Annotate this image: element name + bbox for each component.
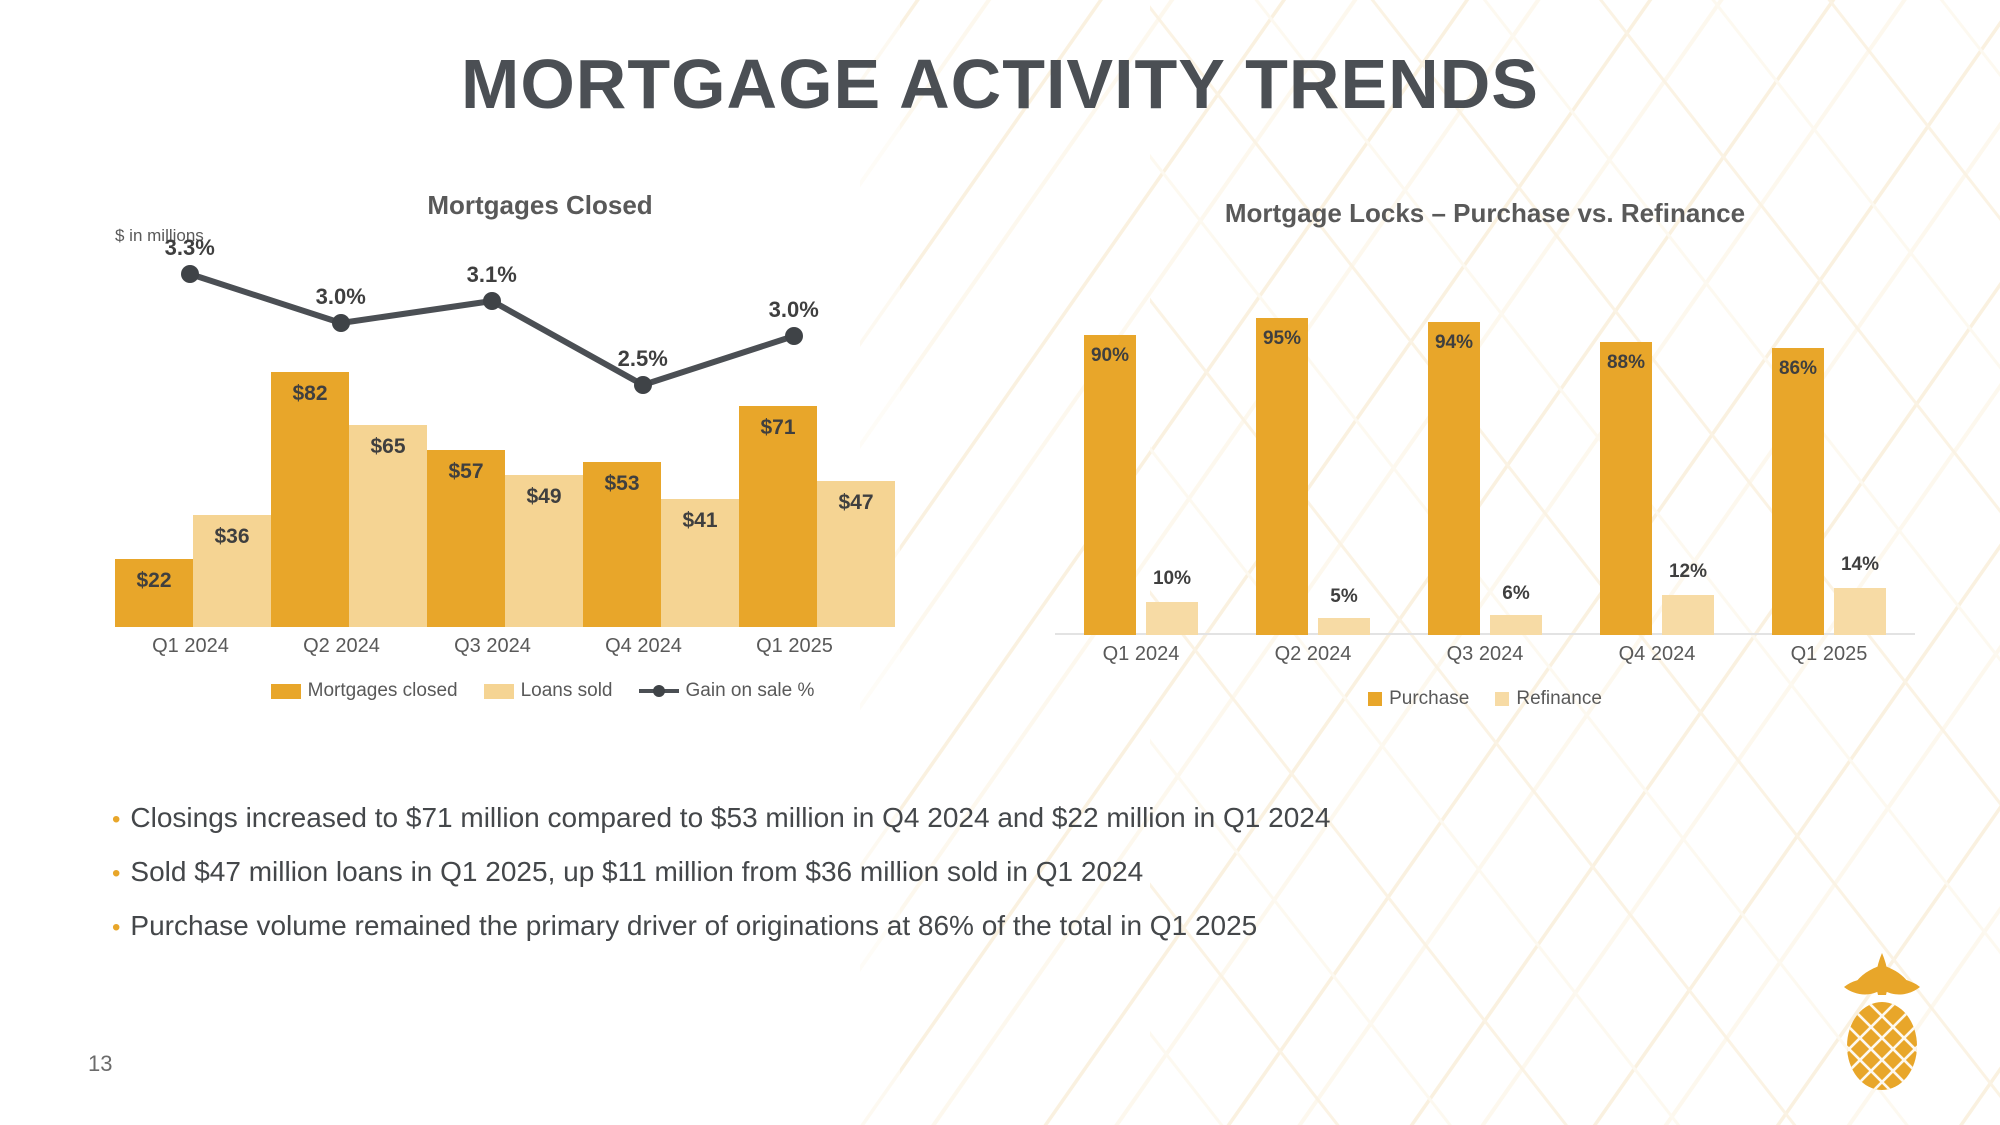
- bar-mortgages-closed[interactable]: $53: [583, 462, 661, 627]
- legend-item-mortgages-closed[interactable]: Mortgages closed: [271, 680, 458, 702]
- list-item: • Closings increased to $71 million comp…: [112, 800, 1612, 835]
- x-axis-labels-right: Q1 2024 Q2 2024 Q3 2024 Q4 2024 Q1 2025: [1055, 643, 1915, 666]
- bar-group: $57 $49: [427, 227, 583, 627]
- chart-title-mortgage-locks: Mortgage Locks – Purchase vs. Refinance: [1020, 198, 1950, 229]
- x-tick: Q4 2024: [568, 635, 719, 658]
- legend-swatch-icon: [1368, 692, 1382, 706]
- bar-refinance[interactable]: 6%: [1490, 615, 1542, 635]
- x-tick: Q1 2024: [1055, 643, 1227, 666]
- legend-label: Mortgages closed: [308, 680, 458, 702]
- x-axis-labels-left: Q1 2024 Q2 2024 Q3 2024 Q4 2024 Q1 2025: [115, 635, 870, 658]
- bar-group: $71 $47: [739, 227, 895, 627]
- bar-purchase[interactable]: 94%: [1428, 322, 1480, 635]
- bar-purchase[interactable]: 88%: [1600, 342, 1652, 635]
- bar-refinance[interactable]: 10%: [1146, 602, 1198, 635]
- x-tick: Q2 2024: [1227, 643, 1399, 666]
- bar-group: 95% 5%: [1227, 235, 1399, 635]
- legend-swatch-icon: [1495, 692, 1509, 706]
- bar-mortgages-closed[interactable]: $57: [427, 450, 505, 627]
- bar-group: $53 $41: [583, 227, 739, 627]
- chart-mortgage-locks: Mortgage Locks – Purchase vs. Refinance …: [1020, 198, 1950, 758]
- bullet-text: Purchase volume remained the primary dri…: [130, 908, 1257, 943]
- plot-area-left: $22 $36 $82 $65 $57: [115, 227, 870, 627]
- bar-groups-left: $22 $36 $82 $65 $57: [115, 227, 870, 627]
- x-tick: Q1 2025: [719, 635, 870, 658]
- legend-line-marker-icon: [639, 684, 679, 698]
- legend-swatch-icon: [484, 684, 514, 699]
- bar-group: 94% 6%: [1399, 235, 1571, 635]
- pineapple-logo-icon: [1822, 945, 1942, 1095]
- bar-purchase[interactable]: 90%: [1084, 335, 1136, 635]
- bar-loans-sold[interactable]: $65: [349, 425, 427, 627]
- legend-label: Gain on sale %: [686, 680, 815, 702]
- bar-group: $82 $65: [271, 227, 427, 627]
- page-title: MORTGAGE ACTIVITY TRENDS: [0, 48, 2000, 122]
- legend-item-loans-sold[interactable]: Loans sold: [484, 680, 613, 702]
- list-item: • Sold $47 million loans in Q1 2025, up …: [112, 854, 1612, 889]
- x-tick: Q1 2025: [1743, 643, 1915, 666]
- bar-refinance[interactable]: 14%: [1834, 588, 1886, 635]
- bar-refinance[interactable]: 12%: [1662, 595, 1714, 635]
- legend-right: Purchase Refinance: [1020, 688, 1950, 710]
- bar-purchase[interactable]: 95%: [1256, 318, 1308, 635]
- bar-mortgages-closed[interactable]: $22: [115, 559, 193, 627]
- bullet-list: • Closings increased to $71 million comp…: [112, 800, 1612, 962]
- bar-group: 86% 14%: [1743, 235, 1915, 635]
- list-item: • Purchase volume remained the primary d…: [112, 908, 1612, 943]
- bar-refinance[interactable]: 5%: [1318, 618, 1370, 635]
- bar-loans-sold[interactable]: $41: [661, 499, 739, 627]
- legend-item-refinance[interactable]: Refinance: [1495, 688, 1602, 710]
- legend-label: Refinance: [1516, 688, 1602, 710]
- bar-group: 90% 10%: [1055, 235, 1227, 635]
- bar-group: 88% 12%: [1571, 235, 1743, 635]
- bar-groups-right: 90% 10% 95% 5% 94%: [1055, 235, 1915, 635]
- bar-mortgages-closed[interactable]: $71: [739, 406, 817, 627]
- legend-swatch-icon: [271, 684, 301, 699]
- bar-purchase[interactable]: 86%: [1772, 348, 1824, 635]
- x-tick: Q3 2024: [417, 635, 568, 658]
- chart-title-mortgages-closed: Mortgages Closed: [60, 190, 990, 221]
- page-number: 13: [88, 1051, 112, 1077]
- bullet-dot-icon: •: [112, 862, 120, 886]
- bar-loans-sold[interactable]: $36: [193, 515, 271, 627]
- legend-item-gain-on-sale[interactable]: Gain on sale %: [639, 680, 815, 702]
- x-tick: Q4 2024: [1571, 643, 1743, 666]
- x-tick: Q3 2024: [1399, 643, 1571, 666]
- bullet-dot-icon: •: [112, 916, 120, 940]
- legend-label: Loans sold: [521, 680, 613, 702]
- bar-loans-sold[interactable]: $47: [817, 481, 895, 627]
- bullet-text: Closings increased to $71 million compar…: [130, 800, 1330, 835]
- bullet-dot-icon: •: [112, 808, 120, 832]
- bar-loans-sold[interactable]: $49: [505, 475, 583, 627]
- legend-label: Purchase: [1389, 688, 1469, 710]
- legend-item-purchase[interactable]: Purchase: [1368, 688, 1469, 710]
- x-tick: Q2 2024: [266, 635, 417, 658]
- bullet-text: Sold $47 million loans in Q1 2025, up $1…: [130, 854, 1143, 889]
- x-tick: Q1 2024: [115, 635, 266, 658]
- chart-mortgages-closed: Mortgages Closed $ in millions $22 $36 $…: [60, 190, 990, 750]
- plot-area-right: 90% 10% 95% 5% 94%: [1055, 235, 1915, 635]
- bar-group: $22 $36: [115, 227, 271, 627]
- legend-left: Mortgages closed Loans sold Gain on sale…: [60, 680, 990, 702]
- bar-mortgages-closed[interactable]: $82: [271, 372, 349, 627]
